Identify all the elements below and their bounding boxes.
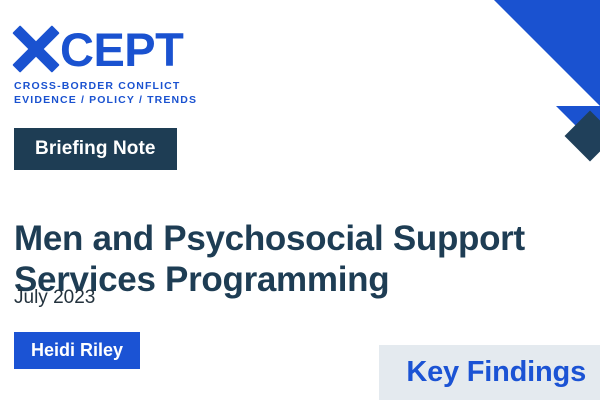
document-type-badge: Briefing Note bbox=[14, 128, 177, 170]
author-badge: Heidi Riley bbox=[14, 332, 140, 369]
logo-tagline-line-1: CROSS-BORDER CONFLICT bbox=[14, 80, 197, 94]
logo-tagline: CROSS-BORDER CONFLICT EVIDENCE / POLICY … bbox=[14, 80, 197, 108]
page-title: Men and Psychosocial Support Services Pr… bbox=[14, 219, 594, 301]
x-mark-icon bbox=[14, 28, 58, 70]
publication-date: July 2023 bbox=[14, 288, 95, 307]
logo-wordmark: CEPT bbox=[14, 26, 197, 72]
logo-wordmark-text: CEPT bbox=[60, 26, 183, 73]
briefing-note-cover: CEPT CROSS-BORDER CONFLICT EVIDENCE / PO… bbox=[0, 0, 600, 400]
xcept-logo: CEPT CROSS-BORDER CONFLICT EVIDENCE / PO… bbox=[14, 26, 197, 108]
logo-tagline-line-2: EVIDENCE / POLICY / TRENDS bbox=[14, 94, 197, 108]
page-title-line-1: Men and Psychosocial Support bbox=[14, 219, 594, 260]
page-title-line-2: Services Programming bbox=[14, 260, 594, 301]
key-findings-panel: Key Findings bbox=[379, 345, 600, 400]
triangle-decoration-icon bbox=[494, 0, 600, 106]
key-findings-label: Key Findings bbox=[406, 358, 600, 387]
